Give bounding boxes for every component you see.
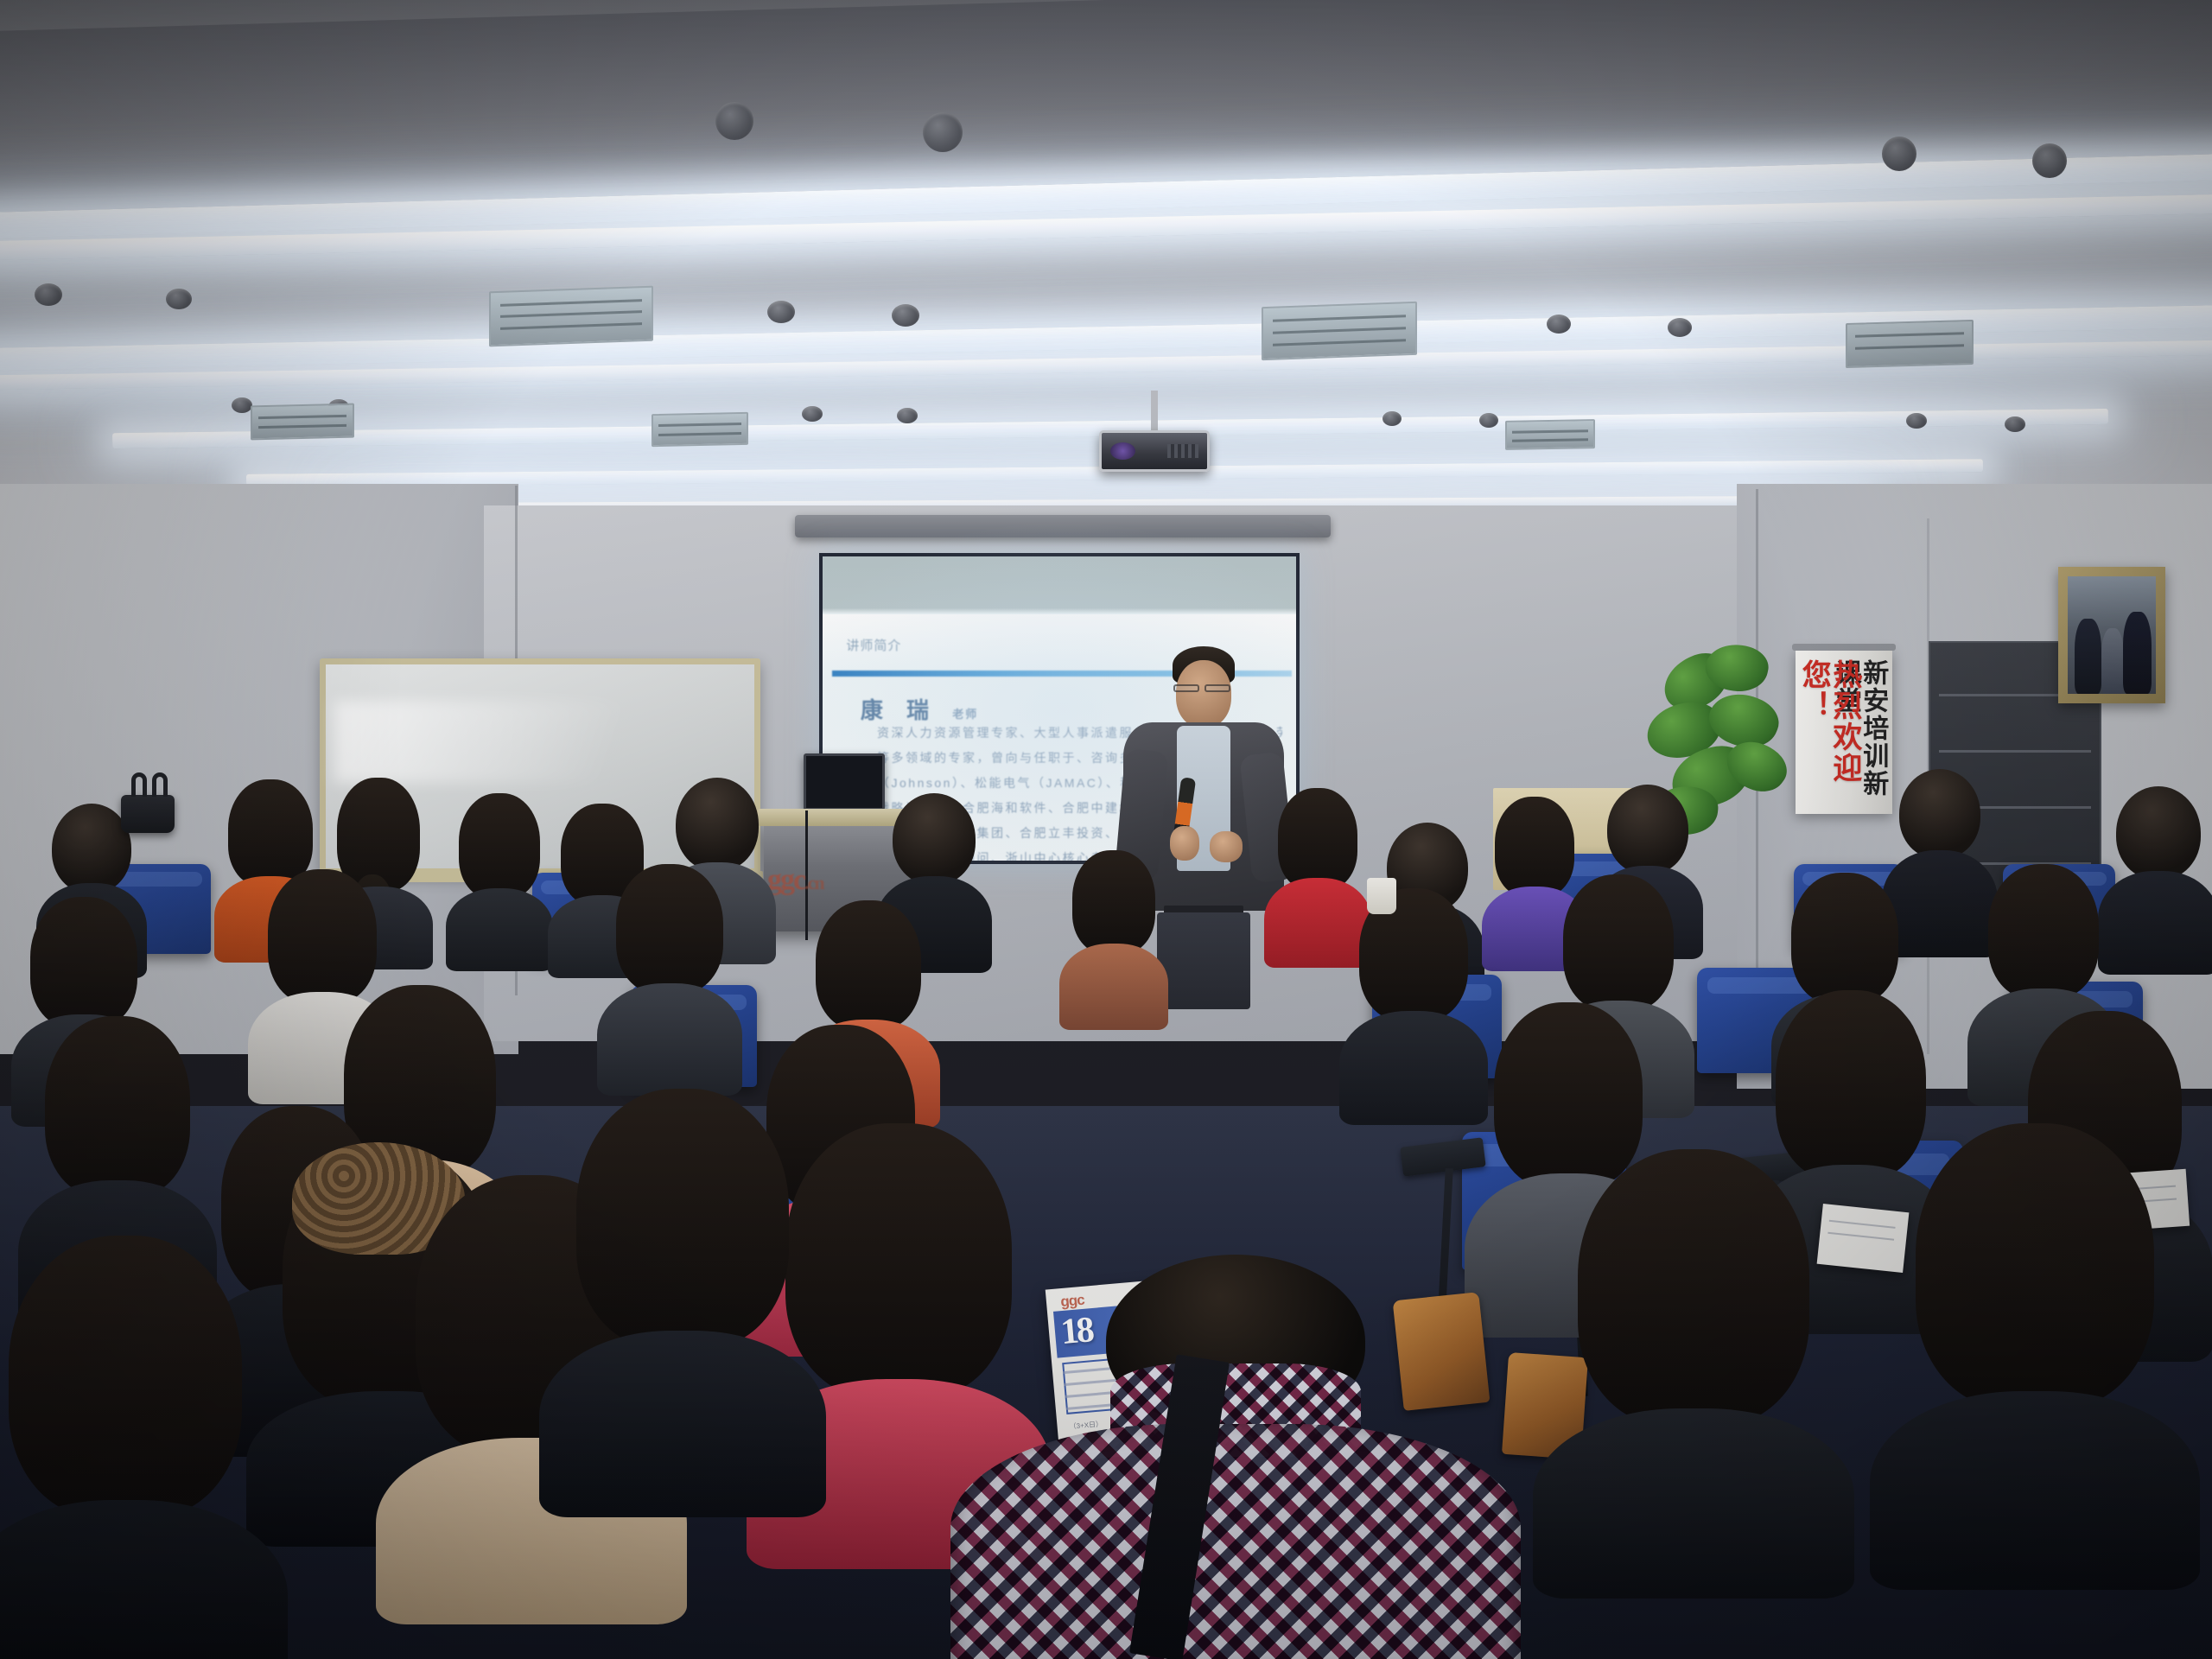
recessed-downlight [1906,413,1927,429]
attendee-body [0,1500,288,1659]
projector-mount-rod [1151,391,1158,432]
check-shirt [950,1424,1521,1659]
attendee-hair [1072,850,1155,954]
attendee-hair [1278,788,1357,890]
attendee [449,793,550,957]
attendee-head [893,793,976,885]
attendee-body [446,888,553,971]
eyeglasses-icon [1173,684,1199,692]
attendee-hair [1578,1149,1809,1426]
recessed-downlight [892,304,919,327]
hvac-vent [1505,419,1595,450]
attendee-body [539,1331,826,1517]
slide-title-suffix: 老师 [952,708,978,721]
welcome-banner: 新安培训新课堂 热烈欢迎您！ [1796,650,1892,814]
projector-vent-icon [1167,444,1199,459]
hvac-vent [652,412,748,447]
attendee [2105,786,2212,968]
attendee-head [1607,785,1688,874]
recessed-downlight [802,406,823,422]
framed-photograph [2058,567,2165,703]
hvac-vent [251,404,354,441]
whiteboard-glare [334,701,720,782]
recessed-downlight [232,397,252,413]
recessed-downlight [1668,318,1692,337]
attendee-hair [1916,1123,2154,1408]
recessed-downlight [1382,411,1402,426]
attendee-head [2116,786,2201,880]
attendee [1063,850,1165,1014]
attendee-body [1059,944,1168,1030]
photo-content [2068,576,2156,694]
projector-icon [1099,430,1210,472]
screen-watermark: ggc.cn [767,864,823,897]
recessed-downlight [1479,413,1498,428]
paper-cup [1367,878,1396,914]
attendee-hair [1563,874,1674,1011]
attendee-head [1899,769,1980,859]
foreground-attendee [950,1255,1521,1659]
handbag [121,795,175,833]
projector-lens-icon [1110,442,1135,460]
attendee-hair [616,864,723,994]
attendee-hair [9,1236,242,1517]
presenter-hand [1210,831,1243,862]
attendee-hair [459,793,540,899]
eyeglasses-icon [1205,684,1230,692]
attendee-body [1870,1391,2200,1590]
attendee [1547,1149,1840,1555]
hvac-vent [1846,320,1974,368]
slide-kicker: 讲师简介 [846,636,901,654]
recessed-downlight [897,408,918,423]
recessed-downlight [2005,416,2025,432]
banner-rod [1792,644,1896,651]
recessed-downlight [1547,315,1571,334]
slide-title-text: 康 瑞 [861,697,938,723]
attendee-hair [1988,864,2099,999]
attendee-hair [30,897,137,1028]
attendee-head [676,778,759,871]
attendee-body [1533,1408,1854,1599]
attendee-body [2098,871,2212,975]
banner-welcome-text: 热烈欢迎您！ [1798,659,1859,814]
recessed-downlight [166,289,192,309]
hvac-vent [489,286,653,347]
attendee-hair [268,869,377,1004]
handbag-handle [131,772,147,797]
attendee-hair [1791,873,1898,1004]
attendee [1884,1123,2186,1555]
hvac-vent [1262,302,1417,360]
presenter-head [1176,660,1231,728]
attendee-hair [45,1016,190,1198]
projection-screen-case [795,515,1331,537]
attendee [1348,888,1479,1108]
attendee-head [52,804,131,893]
attendee [0,1236,268,1659]
watermark-text: ggc [767,864,804,896]
watermark-suffix: .cn [804,872,823,893]
attendee [605,864,734,1084]
recessed-downlight [767,301,795,323]
presenter-hand-on-mic [1170,826,1199,861]
attendee-body [1339,1011,1488,1125]
attendee-body [597,983,742,1096]
attendee [553,1089,812,1486]
presenter-trousers [1157,912,1250,1009]
attendee-hair [576,1089,789,1348]
seminar-room-photo: 讲师简介 康 瑞 老师 资深人力资源管理专家、大型人事派遣服务与薪酬、绩效设计、… [0,0,2212,1659]
lectern-monitor[interactable] [804,753,885,810]
recessed-downlight [35,283,62,306]
handbag-handle [152,772,168,797]
attendee-hair [816,900,921,1030]
slide-title: 康 瑞 老师 [861,693,978,725]
